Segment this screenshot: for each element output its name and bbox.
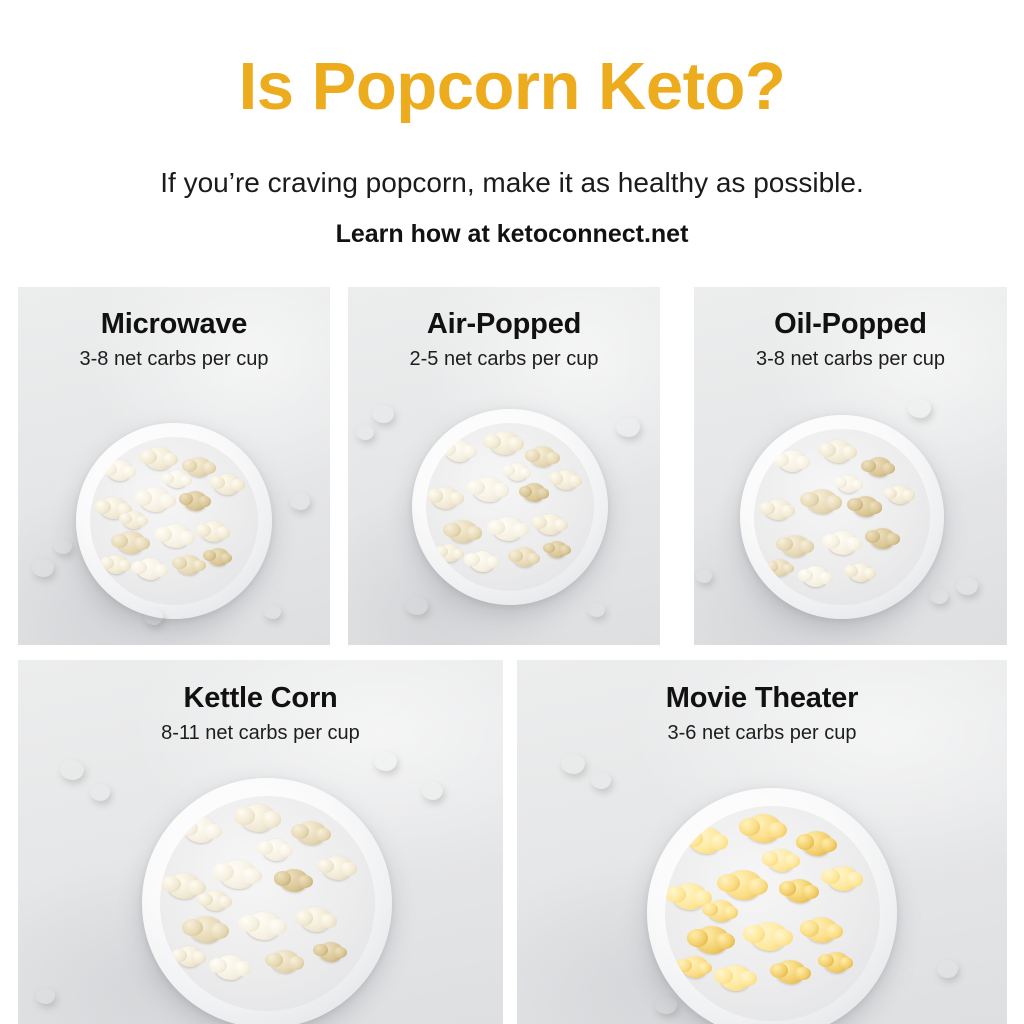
- popcorn-bowl: [142, 778, 392, 1024]
- popcorn-bowl: [412, 409, 608, 605]
- card-label-group: Oil-Popped 3-8 net carbs per cup: [694, 308, 1007, 371]
- loose-kernel: [60, 760, 84, 780]
- loose-kernel: [908, 399, 931, 418]
- loose-kernel: [591, 772, 611, 789]
- card-kettle-corn[interactable]: Kettle Corn 8-11 net carbs per cup: [18, 660, 503, 1024]
- card-carb-value: 3-8 net carbs per cup: [18, 348, 330, 371]
- card-title: Microwave: [18, 308, 330, 341]
- loose-kernel: [937, 960, 958, 978]
- card-title: Kettle Corn: [18, 682, 503, 715]
- card-movie-theater[interactable]: Movie Theater 3-6 net carbs per cup: [517, 660, 1007, 1024]
- popcorn-kernels: [754, 429, 929, 604]
- loose-kernel: [561, 754, 585, 774]
- loose-kernel: [374, 752, 397, 771]
- card-oil-popped[interactable]: Oil-Popped 3-8 net carbs per cup: [694, 287, 1007, 645]
- popcorn-bowl: [740, 415, 944, 619]
- card-label-group: Movie Theater 3-6 net carbs per cup: [517, 682, 1007, 745]
- loose-kernel: [956, 577, 978, 595]
- loose-kernel: [356, 425, 374, 440]
- popcorn-bowl: [76, 423, 272, 619]
- popcorn-keto-infographic: Is Popcorn Keto? If you’re craving popco…: [0, 0, 1024, 1024]
- subtitle-text: If you’re craving popcorn, make it as he…: [0, 166, 1024, 200]
- popcorn-bowl: [647, 788, 897, 1024]
- loose-kernel: [36, 988, 55, 1004]
- card-air-popped[interactable]: Air-Popped 2-5 net carbs per cup: [348, 287, 660, 645]
- bowl-interior: [160, 796, 375, 1011]
- loose-kernel: [422, 782, 443, 800]
- bowl-interior: [90, 437, 259, 606]
- loose-kernel: [616, 417, 640, 437]
- loose-kernel: [290, 493, 310, 510]
- card-label-group: Air-Popped 2-5 net carbs per cup: [348, 308, 660, 371]
- card-carb-value: 2-5 net carbs per cup: [348, 348, 660, 371]
- loose-kernel: [144, 609, 163, 625]
- header: Is Popcorn Keto? If you’re craving popco…: [0, 0, 1024, 287]
- popcorn-kernels: [426, 423, 595, 592]
- card-microwave[interactable]: Microwave 3-8 net carbs per cup: [18, 287, 330, 645]
- card-title: Air-Popped: [348, 308, 660, 341]
- card-carb-value: 8-11 net carbs per cup: [18, 722, 503, 745]
- loose-kernel: [32, 559, 54, 577]
- bowl-interior: [754, 429, 929, 604]
- loose-kernel: [54, 539, 72, 554]
- card-title: Oil-Popped: [694, 308, 1007, 341]
- card-label-group: Kettle Corn 8-11 net carbs per cup: [18, 682, 503, 745]
- popcorn-kernels: [160, 796, 375, 1011]
- card-carb-value: 3-8 net carbs per cup: [694, 348, 1007, 371]
- loose-kernel: [930, 589, 948, 604]
- card-carb-value: 3-6 net carbs per cup: [517, 722, 1007, 745]
- loose-kernel: [406, 597, 428, 615]
- loose-kernel: [90, 784, 110, 801]
- loose-kernel: [372, 405, 394, 423]
- loose-kernel: [655, 996, 677, 1014]
- popcorn-kernels: [665, 806, 880, 1021]
- loose-kernel: [696, 569, 712, 583]
- bowl-interior: [665, 806, 880, 1021]
- cta-text: Learn how at ketoconnect.net: [0, 219, 1024, 249]
- loose-kernel: [588, 603, 605, 617]
- loose-kernel: [264, 605, 281, 619]
- card-title: Movie Theater: [517, 682, 1007, 715]
- popcorn-kernels: [90, 437, 259, 606]
- page-title: Is Popcorn Keto?: [0, 52, 1024, 122]
- bowl-interior: [426, 423, 595, 592]
- card-label-group: Microwave 3-8 net carbs per cup: [18, 308, 330, 371]
